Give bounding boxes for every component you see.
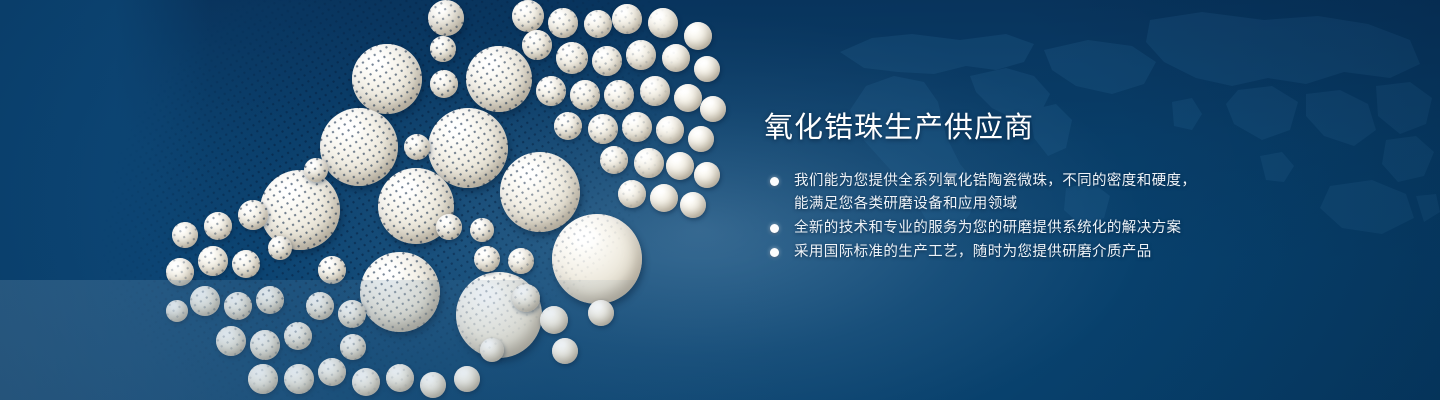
feature-list: 我们能为您提供全系列氧化锆陶瓷微珠，不同的密度和硬度，能满足您各类研磨设备和应用… <box>766 170 1406 265</box>
feature-list-item: 全新的技术和专业的服务为您的研磨提供系统化的解决方案 <box>766 217 1406 240</box>
feature-list-item: 采用国际标准的生产工艺，随时为您提供研磨介质产品 <box>766 241 1406 264</box>
banner-content: 氧化锆珠生产供应商 我们能为您提供全系列氧化锆陶瓷微珠，不同的密度和硬度，能满足… <box>764 0 1424 400</box>
feature-list-item-line: 采用国际标准的生产工艺，随时为您提供研磨介质产品 <box>794 241 1406 264</box>
bullet-dot-icon <box>770 224 779 233</box>
hero-banner: 氧化锆珠生产供应商 我们能为您提供全系列氧化锆陶瓷微珠，不同的密度和硬度，能满足… <box>0 0 1440 400</box>
feature-list-item-line: 全新的技术和专业的服务为您的研磨提供系统化的解决方案 <box>794 217 1406 240</box>
feature-list-item: 我们能为您提供全系列氧化锆陶瓷微珠，不同的密度和硬度，能满足您各类研磨设备和应用… <box>766 170 1406 216</box>
feature-list-item-line: 我们能为您提供全系列氧化锆陶瓷微珠，不同的密度和硬度， <box>794 170 1406 193</box>
bullet-dot-icon <box>770 248 779 257</box>
page-title: 氧化锆珠生产供应商 <box>764 110 1034 146</box>
feature-list-item-line: 能满足您各类研磨设备和应用领域 <box>794 193 1406 216</box>
bullet-dot-icon <box>770 177 779 186</box>
